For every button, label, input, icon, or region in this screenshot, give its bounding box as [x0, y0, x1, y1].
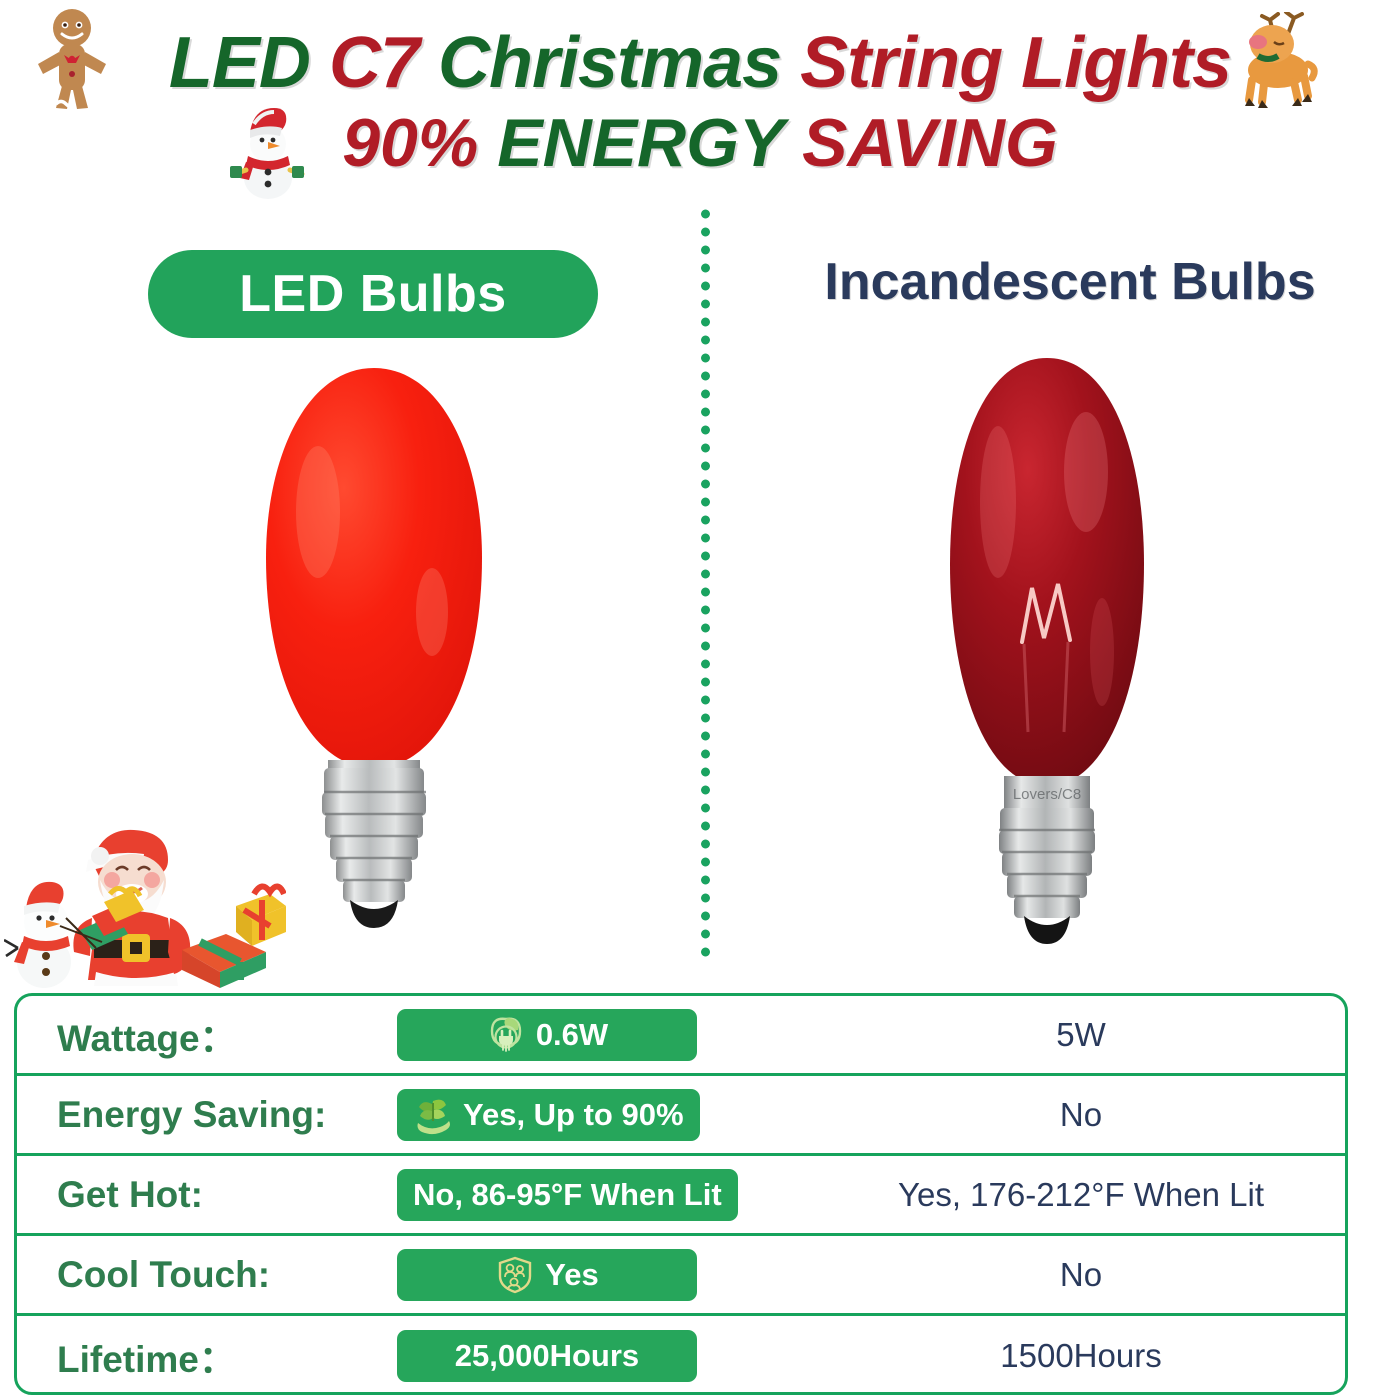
incandescent-bulb-image: Lovers/C8: [936, 352, 1158, 962]
led-badge-wattage: 0.6W: [397, 1009, 697, 1061]
inc-value-get-hot: Yes, 176-212°F When Lit: [817, 1176, 1345, 1214]
led-cell-energy-saving: Yes, Up to 90%: [397, 1089, 817, 1141]
row-label-cool-touch: Cool Touch:: [17, 1254, 397, 1296]
page-title-line1: LED C7 Christmas String Lights: [0, 22, 1400, 104]
led-bulbs-label: LED Bulbs: [239, 264, 506, 324]
leaf-hand-icon: [413, 1095, 453, 1135]
shield-family-icon: [495, 1255, 535, 1295]
title-seg-christmas: Christmas: [438, 23, 800, 103]
table-row: Get Hot: No, 86-95°F When Lit Yes, 176-2…: [17, 1156, 1345, 1236]
row-label-wattage: Wattage：: [17, 1008, 397, 1062]
title-seg-led: LED: [169, 23, 329, 103]
led-cell-get-hot: No, 86-95°F When Lit: [397, 1169, 817, 1221]
table-row: Cool Touch: Yes: [17, 1236, 1345, 1316]
led-cell-wattage: 0.6W: [397, 1009, 817, 1061]
led-cell-lifetime: 25,000Hours: [397, 1330, 817, 1382]
comparison-table: Wattage： 0.6W: [14, 993, 1348, 1395]
eco-plug-icon: [486, 1015, 526, 1055]
led-value-cool-touch: Yes: [545, 1257, 598, 1293]
inc-value-lifetime: 1500Hours: [817, 1337, 1345, 1375]
row-label-get-hot: Get Hot:: [17, 1174, 397, 1216]
table-row: Lifetime： 25,000Hours 1500Hours: [17, 1316, 1345, 1395]
column-header-incandescent: Incandescent Bulbs: [760, 252, 1380, 312]
led-badge-get-hot: No, 86-95°F When Lit: [397, 1169, 738, 1221]
led-badge-lifetime: 25,000Hours: [397, 1330, 697, 1382]
inc-value-energy-saving: No: [817, 1096, 1345, 1134]
led-value-get-hot: No, 86-95°F When Lit: [413, 1177, 722, 1213]
title-seg-c7: C7: [329, 23, 438, 103]
led-badge-energy-saving: Yes, Up to 90%: [397, 1089, 700, 1141]
svg-text:Lovers/C8: Lovers/C8: [1013, 786, 1081, 803]
title-seg-90pct: 90%: [342, 105, 497, 181]
led-value-lifetime: 25,000Hours: [455, 1338, 639, 1374]
table-row: Energy Saving: Yes, Up to 90%: [17, 1076, 1345, 1156]
page-title-line2: 90% ENERGY SAVING: [0, 104, 1400, 182]
title-seg-saving: SAVING: [802, 105, 1058, 181]
santa-claus-icon: [4, 822, 286, 990]
title-seg-string-lights: String Lights: [800, 23, 1231, 103]
row-label-lifetime: Lifetime：: [17, 1329, 397, 1383]
inc-value-wattage: 5W: [817, 1016, 1345, 1054]
led-badge-cool-touch: Yes: [397, 1249, 697, 1301]
row-label-energy-saving: Energy Saving:: [17, 1094, 397, 1136]
title-seg-energy: ENERGY: [497, 105, 802, 181]
snowman-icon: [228, 104, 308, 200]
infographic-page: LED C7 Christmas String Lights 90% ENERG…: [0, 0, 1400, 1400]
led-value-energy-saving: Yes, Up to 90%: [463, 1097, 684, 1133]
header: LED C7 Christmas String Lights 90% ENERG…: [0, 0, 1400, 200]
led-cell-cool-touch: Yes: [397, 1249, 817, 1301]
inc-value-cool-touch: No: [817, 1256, 1345, 1294]
table-row: Wattage： 0.6W: [17, 996, 1345, 1076]
led-value-wattage: 0.6W: [536, 1017, 608, 1053]
column-header-led: LED Bulbs: [148, 250, 598, 338]
reindeer-icon: [1222, 12, 1322, 110]
vertical-dotted-divider: [701, 205, 710, 960]
incandescent-bulbs-label: Incandescent Bulbs: [824, 253, 1315, 311]
